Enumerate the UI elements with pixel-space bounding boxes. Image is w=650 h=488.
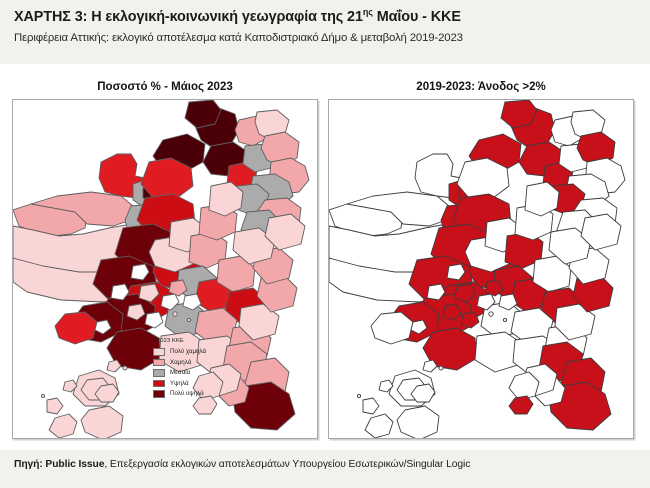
island-aigina	[81, 406, 123, 438]
legend-item-3: Υψηλά	[153, 378, 265, 389]
choropleth-change-2019-2023	[329, 100, 633, 438]
legend-title: B2023 KKE	[153, 338, 265, 344]
r2-island-aigina	[397, 406, 439, 438]
header: ΧΑΡΤΗΣ 3: Η εκλογική-κοινωνική γεωγραφία…	[0, 0, 650, 64]
legend-swatch-polu-xamila	[153, 348, 165, 356]
map-panel-change-2019-2023[interactable]	[328, 99, 634, 439]
r2-island-dot6	[357, 394, 360, 397]
legend-item-0: Πολύ χαμηλά	[153, 347, 265, 358]
r2-island-dot3	[489, 312, 493, 316]
r2-island-dot5	[439, 366, 443, 370]
legend-item-4: Πολύ υψηλά	[153, 389, 265, 400]
legend-label-xamila: Χαμηλά	[170, 359, 191, 366]
legend-label-ypsila: Υψηλά	[170, 380, 189, 387]
page-subtitle: Περιφέρεια Αττικής: εκλογικό αποτέλεσμα …	[14, 32, 636, 44]
island-agkistri	[49, 414, 77, 438]
r2-se-7	[509, 396, 533, 414]
legend-label-polu-xamila: Πολύ χαμηλά	[170, 348, 206, 355]
source-publisher: Πηγή: Public Issue	[14, 459, 104, 470]
page-title-main: ΧΑΡΤΗΣ 3: Η εκλογική-κοινωνική γεωγραφία…	[14, 9, 363, 25]
r2-c-11	[371, 312, 413, 344]
legend-swatch-ypsila	[153, 380, 165, 388]
r2-island-poros	[363, 398, 379, 414]
legend-item-1: Χαμηλά	[153, 357, 265, 368]
left-map-heading: Ποσοστό % - Μάιος 2023	[12, 81, 318, 93]
right-map-heading: 2019-2023: Άνοδος >2%	[328, 81, 634, 93]
r2-island-agkistri	[365, 414, 393, 438]
legend-label-polu-ypsila: Πολύ υψηλά	[170, 390, 204, 397]
map-panel-percent-2023[interactable]: B2023 KKE Πολύ χαμηλά Χαμηλά Μεσαία Υψηλ…	[12, 99, 318, 439]
footer: Πηγή: Public Issue, Επεξεργασία εκλογικώ…	[0, 450, 650, 488]
page-title-tail: Μαΐου - ΚΚΕ	[373, 9, 461, 25]
island-dot4	[187, 318, 190, 321]
r2-island-dot4	[503, 318, 506, 321]
legend-label-mesaia: Μεσαία	[170, 369, 190, 376]
legend-swatch-mesaia	[153, 369, 165, 377]
island-poros	[47, 398, 63, 414]
island-dot5	[123, 366, 127, 370]
island-dot3	[173, 312, 177, 316]
source-note: Πηγή: Public Issue, Επεξεργασία εκλογικώ…	[14, 459, 636, 470]
island-dot6	[41, 394, 44, 397]
poster-root: ΧΑΡΤΗΣ 3: Η εκλογική-κοινωνική γεωγραφία…	[0, 0, 650, 488]
legend-item-2: Μεσαία	[153, 368, 265, 379]
source-detail: , Επεξεργασία εκλογικών αποτελεσμάτων Υπ…	[104, 459, 470, 470]
page-title: ΧΑΡΤΗΣ 3: Η εκλογική-κοινωνική γεωγραφία…	[14, 9, 636, 26]
maps-board: Ποσοστό % - Μάιος 2023 2019-2023: Άνοδος…	[0, 64, 650, 450]
legend-swatch-polu-ypsila	[153, 390, 165, 398]
page-title-superscript: ης	[363, 7, 373, 17]
region-c-11	[55, 312, 97, 344]
legend-swatch-xamila	[153, 359, 165, 367]
map-legend: B2023 KKE Πολύ χαμηλά Χαμηλά Μεσαία Υψηλ…	[153, 338, 265, 399]
